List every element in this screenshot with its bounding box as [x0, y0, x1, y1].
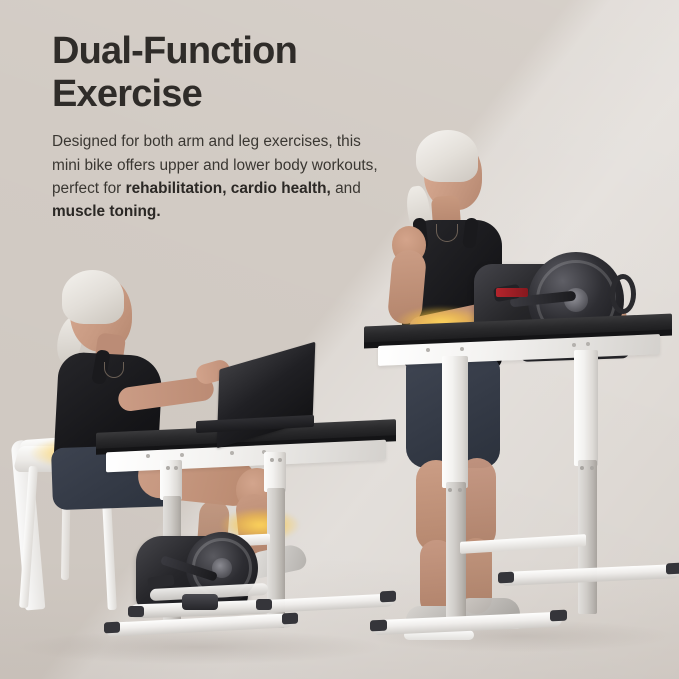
desk-low-bolt-1: [146, 454, 150, 458]
desk-low-foot-cap-right: [282, 613, 298, 625]
desk-low-bolt-3: [230, 451, 234, 455]
page-title: Dual-Function Exercise: [52, 30, 382, 115]
desk-high-bolt-2: [460, 347, 464, 351]
desk-low-bolt-2: [180, 453, 184, 457]
description-paragraph: Designed for both arm and leg exercises,…: [52, 130, 382, 224]
standing-woman-hair: [416, 130, 478, 182]
desk-high-foot-cap-left: [370, 620, 387, 632]
desk-low-leg-bolt-a: [166, 466, 170, 470]
product-lifestyle-image: Dual-Function Exercise Designed for both…: [0, 0, 679, 679]
description-bold-2: muscle toning.: [52, 203, 161, 220]
mini-bike-under-desk-center-block: [182, 594, 218, 610]
desk-high-leg-bolt-d: [590, 466, 594, 470]
desk-high-leg-front-upper: [442, 356, 468, 488]
standing-scene: [360, 120, 679, 679]
bike-logo: [496, 288, 528, 297]
description-bold-1: rehabilitation, cardio health,: [126, 180, 331, 197]
desk-high-bolt-3: [572, 343, 576, 347]
desk-high-leg-back-upper: [574, 350, 598, 466]
desk-high-leg-bolt-c: [580, 466, 584, 470]
desk-low-leg-bolt-c: [270, 458, 274, 462]
desk-high-leg-bolt-b: [458, 488, 462, 492]
headline-line-1: Dual-Function: [52, 30, 297, 72]
seated-scene-floor-shadow: [20, 630, 380, 664]
mini-bike-under-desk-foot-cap-a: [128, 606, 144, 617]
seated-woman-hair: [62, 270, 124, 324]
desk-high-leg-bolt-a: [448, 488, 452, 492]
seated-scene: [0, 250, 400, 679]
desk-low-foot-cap-left: [104, 622, 120, 634]
desk-high-foot-back-cap-left: [498, 572, 514, 584]
desk-low-leg-front-upper: [160, 460, 182, 500]
mini-bike-under-desk-foot-cap-b: [256, 599, 272, 610]
desk-high-foot-cap-right: [550, 610, 567, 622]
marketing-copy-block: Dual-Function Exercise Designed for both…: [52, 30, 382, 224]
desk-low-leg-bolt-b: [174, 466, 178, 470]
desk-high-foot-back-cap-right: [666, 563, 679, 575]
desk-high-bolt-4: [586, 342, 590, 346]
desk-high-bolt-1: [426, 348, 430, 352]
desk-low-leg-bolt-d: [278, 458, 282, 462]
mini-bike-on-desk-far-pedal-loop: [610, 274, 636, 314]
desk-low-leg-back-upper: [264, 452, 286, 492]
description-mid: and: [331, 180, 361, 197]
headline-line-2: Exercise: [52, 73, 382, 116]
